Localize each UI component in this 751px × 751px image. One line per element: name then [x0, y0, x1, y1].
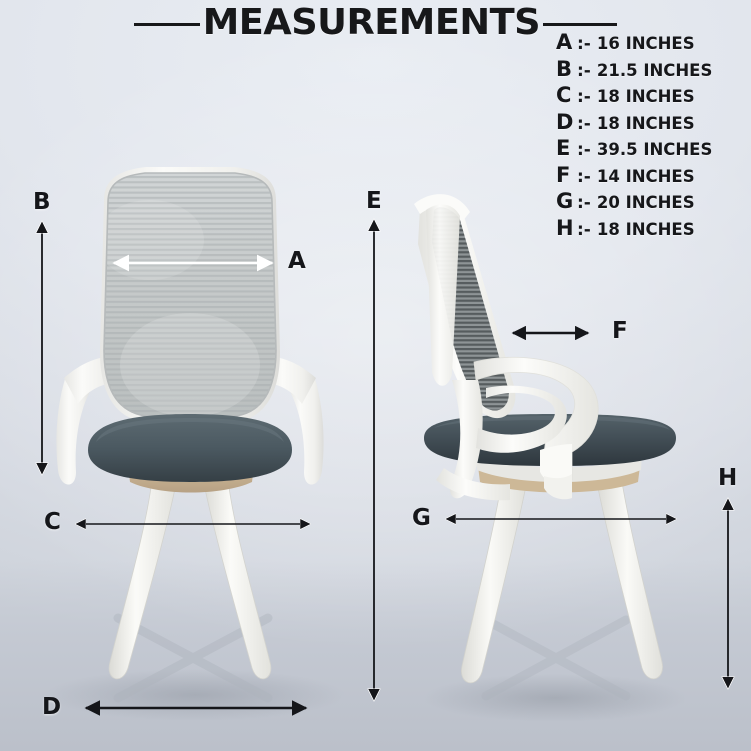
dimension-label-h: H — [718, 467, 737, 490]
dimension-label-c: C — [44, 511, 61, 534]
legend-row-d: D :- 18 INCHES — [556, 112, 748, 139]
legend-separator: :- — [574, 142, 597, 159]
legend-row-g: G :- 20 INCHES — [556, 191, 748, 218]
chair-front-view — [0, 150, 380, 751]
legend-key-e: E — [556, 138, 574, 159]
legend-value-e: 39.5 INCHES — [597, 142, 712, 159]
legend-value-c: 18 INCHES — [597, 89, 695, 106]
title-rule-left — [134, 23, 200, 26]
legend-separator: :- — [574, 195, 597, 212]
legend-key-b: B — [556, 59, 574, 80]
legend-value-a: 16 INCHES — [597, 36, 695, 53]
legend-separator: :- — [574, 116, 597, 133]
legend-separator: :- — [574, 222, 597, 239]
legend-key-d: D — [556, 112, 574, 133]
dimension-label-f: F — [612, 320, 628, 343]
legend-value-h: 18 INCHES — [597, 222, 695, 239]
legend-row-b: B :- 21.5 INCHES — [556, 59, 748, 86]
legend-separator: :- — [574, 169, 597, 186]
legend-separator: :- — [574, 89, 597, 106]
legend-row-a: A :- 16 INCHES — [556, 32, 748, 59]
legend-value-d: 18 INCHES — [597, 116, 695, 133]
legend-value-b: 21.5 INCHES — [597, 63, 712, 80]
page-title: MEASUREMENTS — [203, 5, 540, 41]
dimension-label-e: E — [366, 190, 382, 213]
dimension-label-g: G — [412, 507, 431, 530]
dimension-label-a: A — [288, 250, 306, 273]
legend-separator: :- — [574, 36, 597, 53]
measurements-legend: A :- 16 INCHES B :- 21.5 INCHES C :- 18 … — [556, 32, 748, 244]
legend-key-a: A — [556, 32, 574, 53]
legend-row-f: F :- 14 INCHES — [556, 165, 748, 192]
measurement-infographic: B A C D E F G H MEASUREMENTS A :- 16 INC… — [0, 0, 751, 751]
legend-value-g: 20 INCHES — [597, 195, 695, 212]
legend-value-f: 14 INCHES — [597, 169, 695, 186]
legend-row-e: E :- 39.5 INCHES — [556, 138, 748, 165]
legend-separator: :- — [574, 63, 597, 80]
legend-key-c: C — [556, 85, 574, 106]
dimension-label-b: B — [33, 191, 51, 214]
title-rule-right — [543, 23, 617, 26]
legend-row-c: C :- 18 INCHES — [556, 85, 748, 112]
dimension-label-d: D — [42, 696, 61, 719]
legend-key-h: H — [556, 218, 574, 239]
legend-key-g: G — [556, 191, 574, 212]
legend-key-f: F — [556, 165, 574, 186]
legend-row-h: H :- 18 INCHES — [556, 218, 748, 245]
